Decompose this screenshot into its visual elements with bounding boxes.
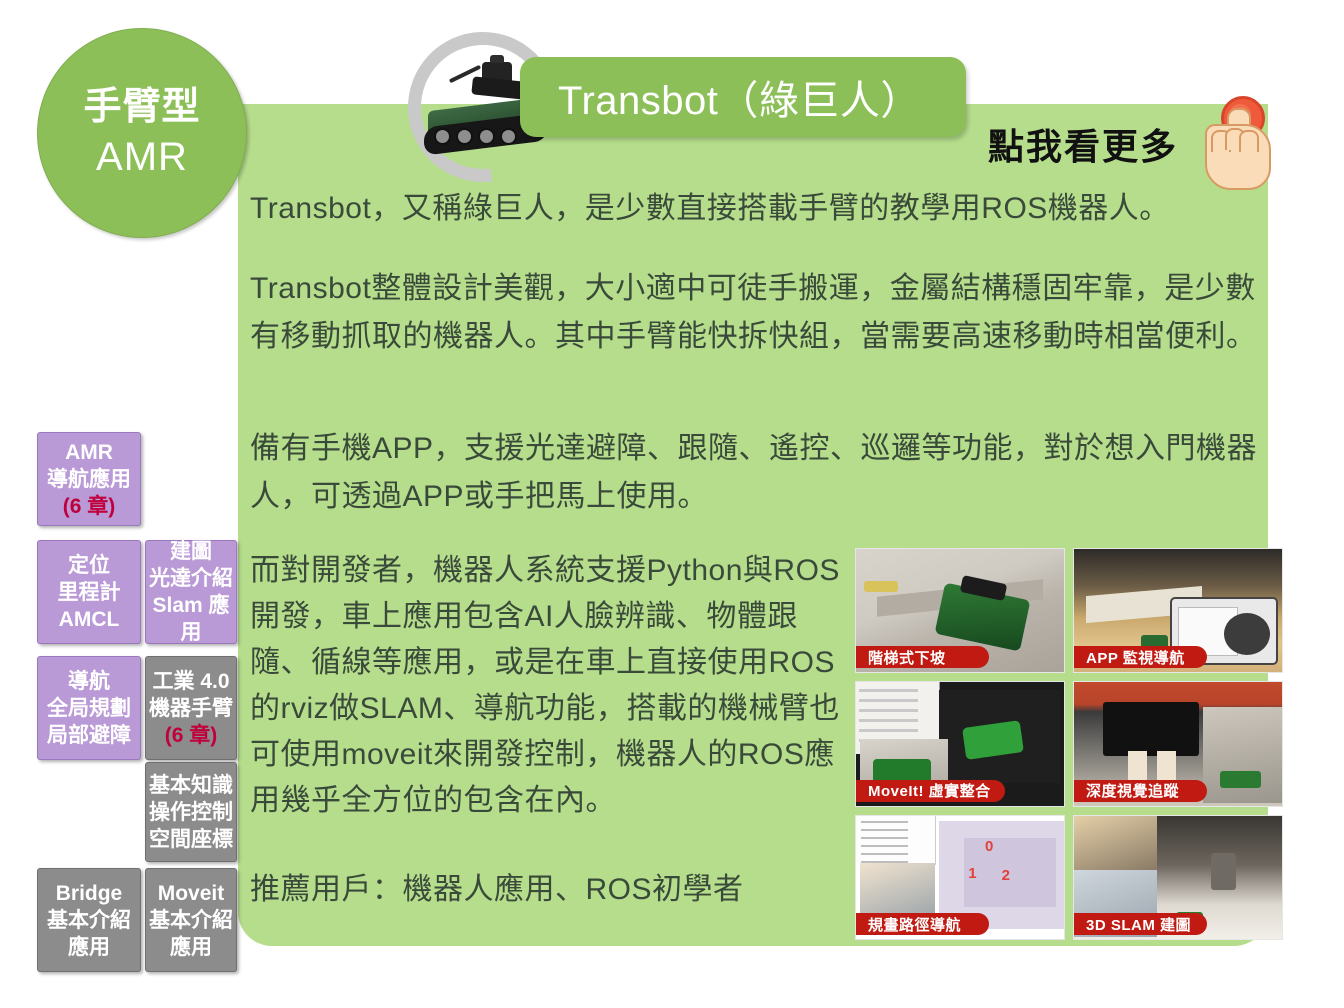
feature-gallery: 階梯式下坡 APP 監視導航 MoveIt! 虛實整合 [855,548,1283,940]
click-more-label: 點我看更多 [988,118,1178,170]
gallery-caption: 3D SLAM 建圖 [1074,913,1207,935]
sidebar-box-line: 應用 [68,934,110,961]
scene-prop [864,581,897,592]
waypoint-marker: 0 [985,838,993,855]
pointing-hand-icon [1195,96,1281,192]
badge-line-1: 手臂型 [83,85,200,130]
design-paragraph: Transbot整體設計美觀，大小適中可徒手搬運，金屬結構穩固牢靠，是少數有移動… [250,265,1260,361]
sidebar-box-line: 基本知識 [149,772,233,799]
display-screen [1103,702,1199,756]
sidebar-box-navigation[interactable]: 導航 全局規劃 局部避障 [37,656,141,760]
sidebar-box-line: 工業 4.0 [152,668,229,695]
sidebar-box-line: Slam 應用 [146,592,236,646]
sidebar-box-line: AMCL [59,606,120,633]
joystick-overlay [1224,613,1270,655]
mapped-pillar [1211,853,1236,890]
sidebar-box-basics[interactable]: 基本知識 操作控制 空間座標 [145,762,237,862]
waypoint-marker: 2 [1002,867,1010,884]
gallery-caption: 深度視覺追蹤 [1074,780,1207,802]
gallery-item-stair-descent[interactable]: 階梯式下坡 [855,548,1065,673]
sidebar-box-line: 應用 [170,934,212,961]
sidebar-box-mapping[interactable]: 建圖 光達介紹 Slam 應用 [145,540,237,644]
sidebar-box-line: Bridge [56,880,123,907]
slide-canvas: 手臂型 AMR Transbot（綠巨人） 點我看更多 Transbot，又稱綠… [0,0,1344,1008]
badge-line-2: AMR [96,134,188,181]
sidebar-box-line: 操作控制 [149,799,233,826]
sidebar-box-line: 基本介紹 [149,907,233,934]
inset-photo [1074,816,1157,870]
robot-wheel [478,128,495,145]
gallery-item-app-navigation[interactable]: APP 監視導航 [1073,548,1283,673]
audience-paragraph: 推薦用戶：機器人應用、ROS初學者 [250,866,840,914]
app-paragraph: 備有手機APP，支援光達避障、跟隨、遙控、巡邏等功能，對於想入門機器人，可透過A… [250,425,1260,521]
waypoint-marker: 1 [968,865,976,882]
sidebar-box-line: 導航 [68,668,110,695]
sidebar-box-localization[interactable]: 定位 里程計 AMCL [37,540,141,644]
hand-knuckle [1239,130,1259,152]
page-title: Transbot（綠巨人） [558,68,921,126]
gallery-item-depth-tracking[interactable]: 深度視覺追蹤 [1073,681,1283,806]
rviz-panel [856,816,936,865]
sidebar-box-amr-nav[interactable]: AMR 導航應用 (6 章) [37,432,141,526]
sidebar-box-line: 空間座標 [149,826,233,853]
sidebar-box-line: 基本介紹 [47,907,131,934]
developer-paragraph: 而對開發者，機器人系統支援Python與ROS開發，車上應用包含AI人臉辨識、物… [250,548,840,824]
robot-in-scene [1220,771,1262,788]
sidebar-box-line: Moveit [158,880,225,907]
sidebar-box-line: 建圖 [170,538,212,565]
intro-paragraph: Transbot，又稱綠巨人，是少數直接搭載手臂的教學用ROS機器人。 [250,185,1260,233]
gallery-item-path-planning[interactable]: 0 1 2 規畫路徑導航 [855,815,1065,940]
gallery-caption: 階梯式下坡 [856,646,989,668]
sidebar-box-bridge[interactable]: Bridge 基本介紹 應用 [37,868,141,972]
robot-wheel [434,128,451,145]
sidebar-box-moveit[interactable]: Moveit 基本介紹 應用 [145,868,237,972]
click-more-cta[interactable]: 點我看更多 [988,118,1178,170]
sidebar-box-line: 里程計 [58,579,121,606]
gallery-item-moveit-sim[interactable]: MoveIt! 虛實整合 [855,681,1065,806]
gallery-caption: APP 監視導航 [1074,646,1207,668]
sidebar-box-line: 定位 [68,552,110,579]
title-banner: Transbot（綠巨人） [520,57,966,137]
gallery-caption: MoveIt! 虛實整合 [856,780,1005,802]
category-badge: 手臂型 AMR [37,28,247,238]
gallery-caption: 規畫路徑導航 [856,913,989,935]
gallery-item-slam-3d[interactable]: 3D SLAM 建圖 [1073,815,1283,940]
inset-photo [1203,707,1282,803]
robot-wheel [500,128,517,145]
sidebar-box-line: 光達介紹 [149,565,233,592]
sidebar-box-line: 全局規劃 [47,695,131,722]
chapter-badge: (6 章) [63,493,116,520]
sidebar-box-line: 導航應用 [47,466,131,493]
sidebar-box-industry40[interactable]: 工業 4.0 機器手臂 (6 章) [145,656,237,760]
sidebar-box-line: 局部避障 [47,722,131,749]
costmap-region [964,838,1056,907]
sidebar-box-line: AMR [65,439,113,466]
chapter-badge: (6 章) [165,722,218,749]
robot-wheel [456,128,473,145]
sidebar-box-line: 機器手臂 [149,695,233,722]
